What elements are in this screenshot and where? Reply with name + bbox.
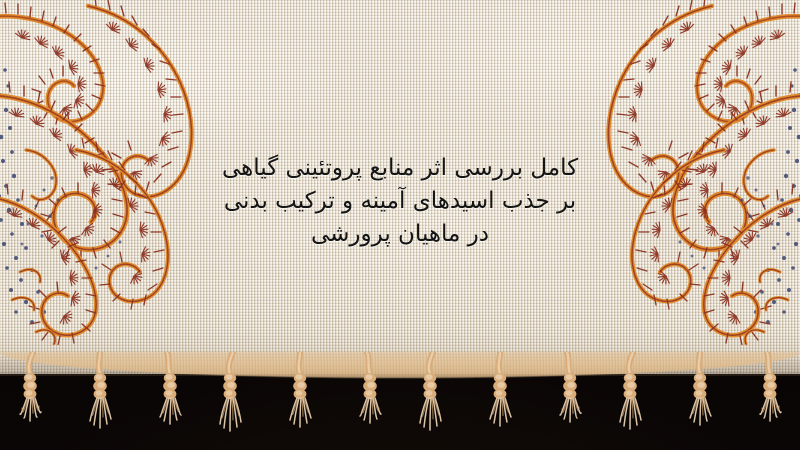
linen-cloth bbox=[0, 0, 800, 374]
title-slide: کامل بررسی اثر منابع پروتئینی گیاهی بر ج… bbox=[0, 0, 800, 450]
